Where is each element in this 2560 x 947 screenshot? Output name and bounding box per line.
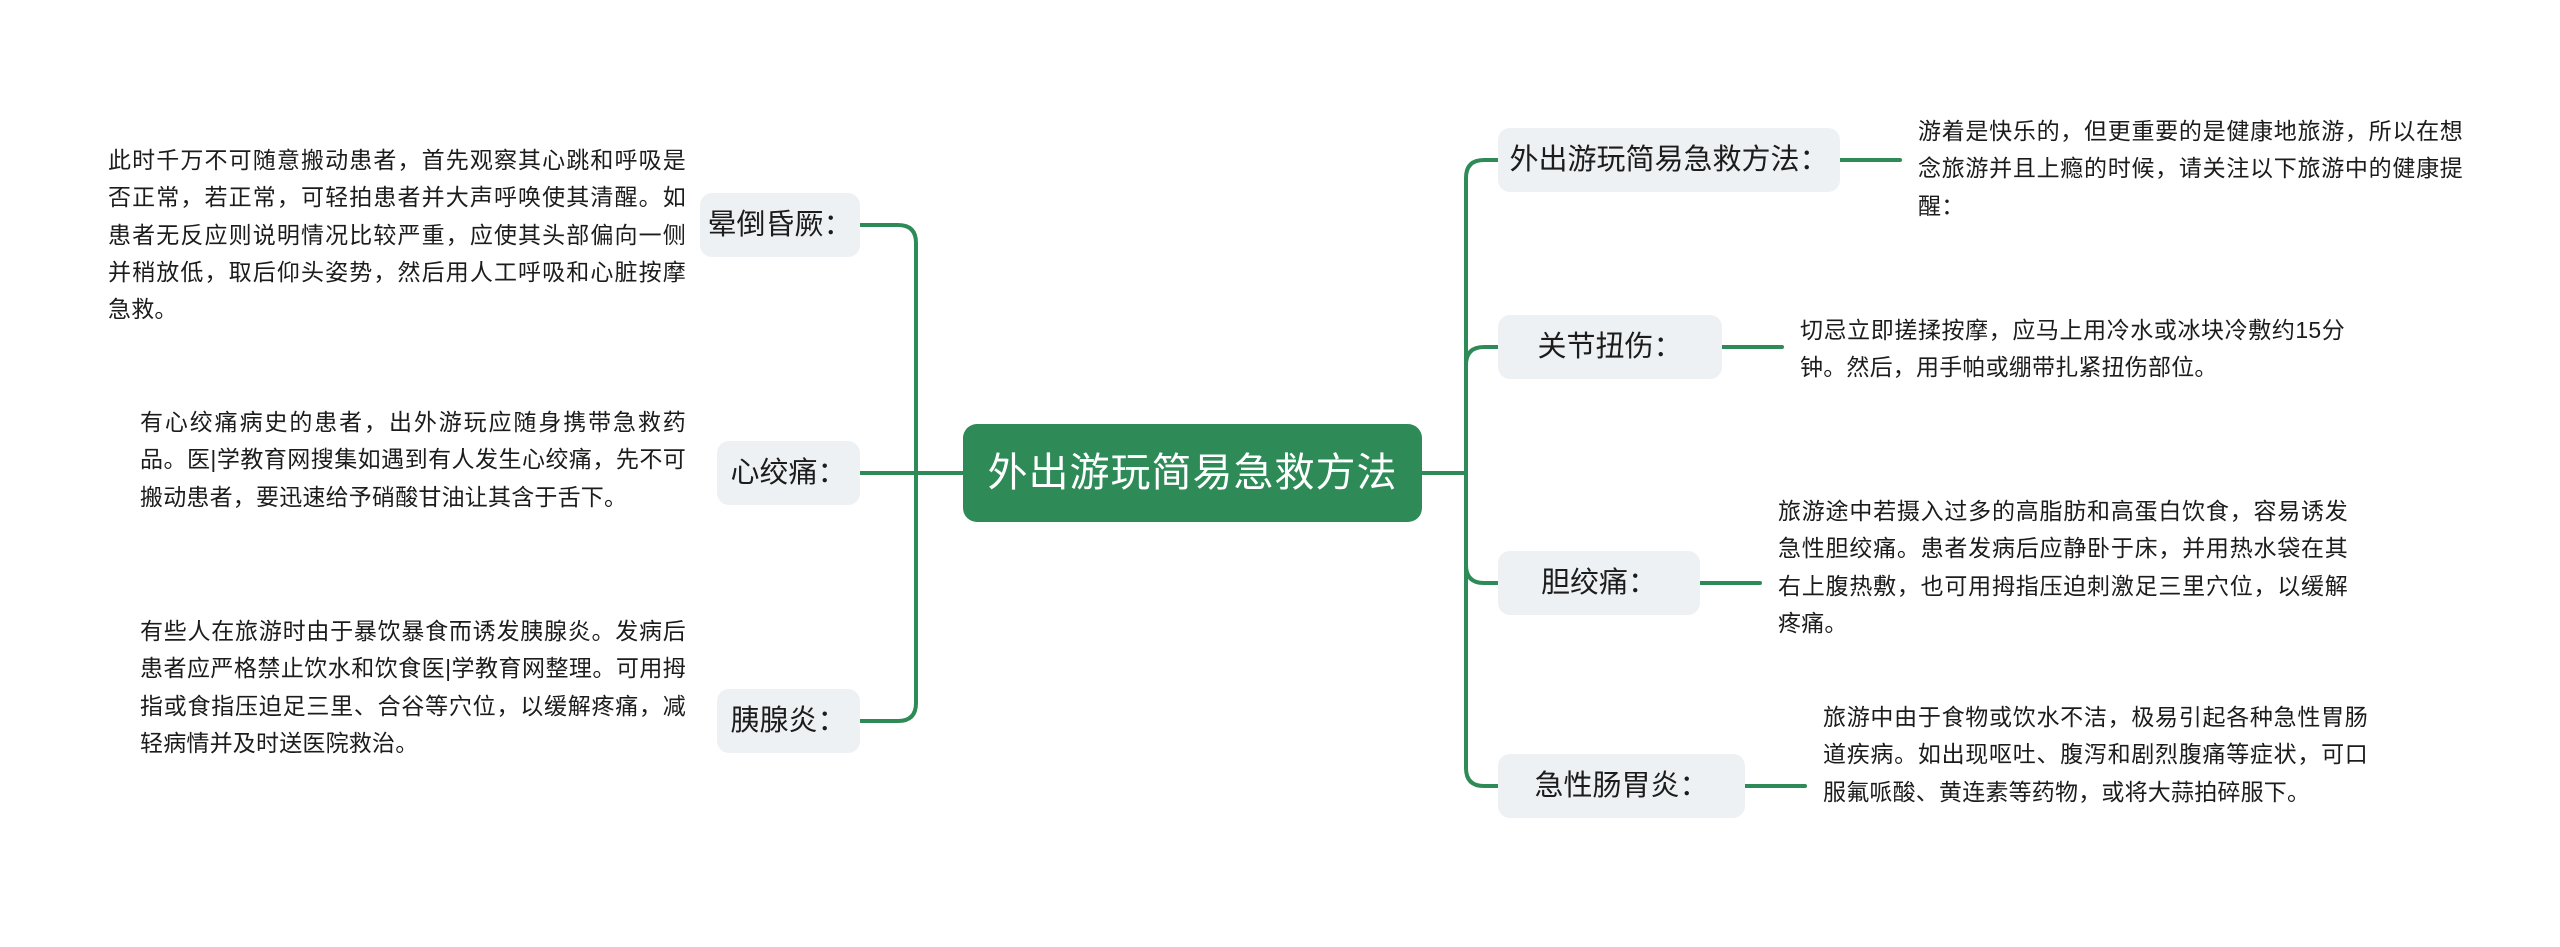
right-node-1-label: 外出游玩简易急救方法：: [1510, 142, 1829, 178]
left-leaf-text-2: 有心绞痛病史的患者，出外游玩应随身携带急救药品。医|学教育网搜集如遇到有人发生心…: [140, 404, 686, 516]
right-leaf-text-1: 游着是快乐的，但更重要的是健康地旅游，所以在想念旅游并且上瘾的时候，请关注以下旅…: [1918, 113, 2463, 225]
right-leaf-text-3: 旅游途中若摄入过多的高脂肪和高蛋白饮食，容易诱发急性胆绞痛。患者发病后应静卧于床…: [1778, 493, 2348, 642]
left-node-1-label: 晕倒昏厥：: [708, 207, 853, 243]
right-leaf-text-4-body: 旅游中由于食物或饮水不洁，极易引起各种急性胃肠道疾病。如出现呕吐、腹泻和剧烈腹痛…: [1823, 704, 2368, 805]
wire-right-4: [1466, 768, 1498, 786]
right-node-2-label: 关节扭伤：: [1537, 329, 1682, 365]
right-node-3-label: 胆绞痛：: [1541, 565, 1657, 601]
right-leaf-text-1-body: 游着是快乐的，但更重要的是健康地旅游，所以在想念旅游并且上瘾的时候，请关注以下旅…: [1918, 118, 2463, 219]
left-leaf-text-1-body: 此时千万不可随意搬动患者，首先观察其心跳和呼吸是否正常，若正常，可轻拍患者并大声…: [108, 147, 686, 322]
right-node-1[interactable]: 外出游玩简易急救方法：: [1498, 128, 1840, 192]
right-leaf-text-3-body: 旅游途中若摄入过多的高脂肪和高蛋白饮食，容易诱发急性胆绞痛。患者发病后应静卧于床…: [1778, 498, 2348, 636]
left-leaf-text-1: 此时千万不可随意搬动患者，首先观察其心跳和呼吸是否正常，若正常，可轻拍患者并大声…: [108, 142, 686, 328]
left-node-2[interactable]: 心绞痛：: [717, 441, 860, 505]
wire-left-1: [860, 225, 916, 243]
left-node-3[interactable]: 胰腺炎：: [717, 689, 860, 753]
left-leaf-text-3: 有些人在旅游时由于暴饮暴食而诱发胰腺炎。发病后患者应严格禁止饮水和饮食医|学教育…: [140, 613, 686, 762]
right-node-3[interactable]: 胆绞痛：: [1498, 551, 1700, 615]
left-leaf-text-3-body: 有些人在旅游时由于暴饮暴食而诱发胰腺炎。发病后患者应严格禁止饮水和饮食医|学教育…: [140, 618, 686, 756]
right-leaf-text-2: 切忌立即搓揉按摩，应马上用冷水或冰块冷敷约15分钟。然后，用手帕或绷带扎紧扭伤部…: [1800, 312, 2345, 387]
right-leaf-text-2-body: 切忌立即搓揉按摩，应马上用冷水或冰块冷敷约15分钟。然后，用手帕或绷带扎紧扭伤部…: [1800, 317, 2345, 380]
wire-right-1: [1466, 160, 1498, 178]
right-node-4-label: 急性肠胃炎：: [1534, 768, 1708, 804]
right-node-4[interactable]: 急性肠胃炎：: [1498, 754, 1745, 818]
mindmap-canvas: 外出游玩简易急救方法 晕倒昏厥： 心绞痛： 胰腺炎： 此时千万不可随意搬动患者，…: [0, 0, 2560, 947]
wire-left-3: [860, 703, 916, 721]
left-node-2-label: 心绞痛：: [731, 455, 847, 491]
right-node-2[interactable]: 关节扭伤：: [1498, 315, 1722, 379]
root-node-label: 外出游玩简易急救方法: [988, 449, 1398, 497]
wire-right-2: [1466, 347, 1498, 365]
left-node-3-label: 胰腺炎：: [731, 703, 847, 739]
root-node[interactable]: 外出游玩简易急救方法: [963, 424, 1422, 522]
left-node-1[interactable]: 晕倒昏厥：: [700, 193, 860, 257]
right-leaf-text-4: 旅游中由于食物或饮水不洁，极易引起各种急性胃肠道疾病。如出现呕吐、腹泻和剧烈腹痛…: [1823, 699, 2368, 811]
left-leaf-text-2-body: 有心绞痛病史的患者，出外游玩应随身携带急救药品。医|学教育网搜集如遇到有人发生心…: [140, 409, 686, 510]
wire-right-3: [1466, 565, 1498, 583]
